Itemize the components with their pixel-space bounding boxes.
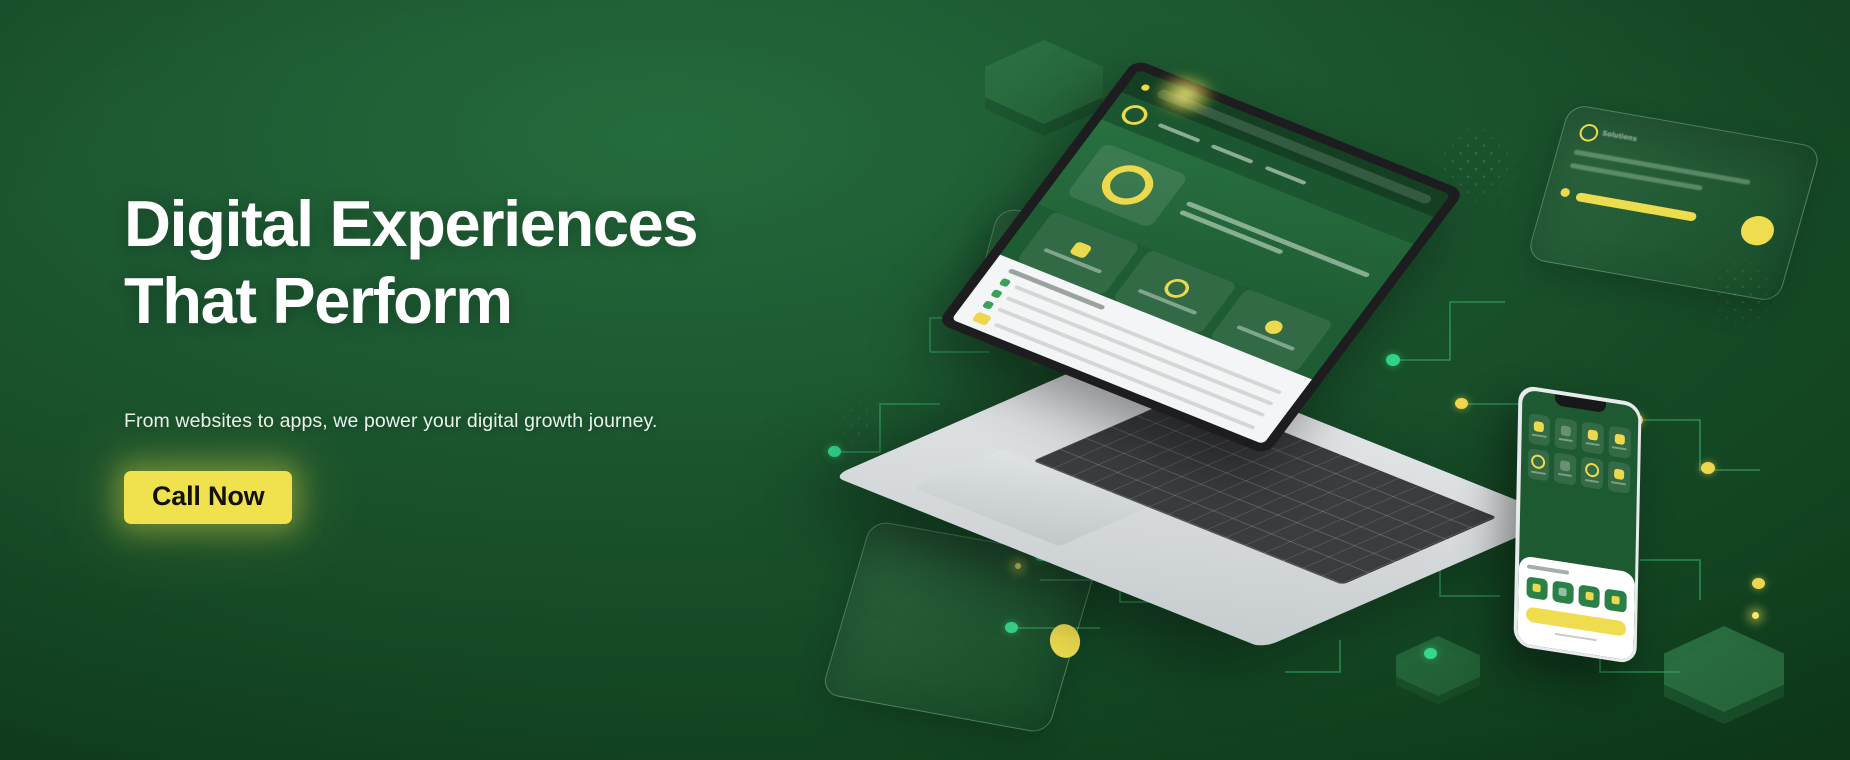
nav-item [1158, 123, 1201, 142]
hero-banner: Solutions Solutions [0, 0, 1850, 760]
app-icon [1614, 468, 1624, 480]
circuit-node [1701, 462, 1715, 474]
circuit-node [1752, 578, 1765, 589]
laptop-illustration [1000, 92, 1520, 612]
app-icon [1614, 433, 1624, 445]
hero-copy: Digital Experiences That Perform From we… [124, 186, 884, 524]
hero-subtitle: From websites to apps, we power your dig… [124, 407, 884, 436]
check-icon [981, 300, 994, 310]
chip-icon [971, 311, 992, 325]
app-icon [1588, 429, 1598, 441]
check-icon [990, 289, 1003, 299]
phone-bottom-card [1517, 555, 1635, 661]
nav-item [1264, 166, 1307, 185]
blob-icon [1262, 319, 1286, 337]
circuit-node [1424, 648, 1437, 659]
card-title [1526, 564, 1568, 575]
app-tile [1554, 452, 1576, 485]
nav-item [1211, 145, 1254, 164]
card-icon-tile [1552, 580, 1574, 604]
card-icon-tile [1526, 576, 1548, 600]
app-tile [1581, 456, 1603, 489]
phone-screen [1517, 389, 1638, 661]
phone-illustration [1513, 384, 1641, 664]
app-tile-grid [1519, 402, 1638, 573]
app-tile [1527, 448, 1549, 481]
app-tile [1608, 460, 1630, 493]
list-icon [1068, 241, 1092, 259]
app-tile [1581, 421, 1603, 454]
card-icon-tile [1578, 584, 1600, 608]
laptop-screen [951, 70, 1450, 444]
headline-line-1: Digital Experiences [124, 187, 697, 260]
app-icon [1534, 421, 1544, 433]
app-icon [1531, 453, 1545, 469]
ring-logo-icon [1117, 102, 1152, 128]
app-icon [1585, 462, 1599, 478]
headline-line-2: That Perform [124, 263, 884, 340]
ring-logo-icon [1092, 159, 1162, 212]
check-icon [998, 278, 1011, 288]
primary-action-button [1525, 606, 1625, 637]
card-icon-tile [1605, 588, 1627, 612]
ring-icon [1160, 276, 1194, 301]
home-indicator [1554, 632, 1596, 641]
app-icon [1561, 425, 1571, 437]
app-tile [1608, 425, 1630, 458]
app-icon [1560, 460, 1570, 472]
hero-logo-card [1065, 142, 1189, 228]
app-tile [1555, 417, 1577, 450]
call-now-button[interactable]: Call Now [124, 471, 292, 524]
page-title: Digital Experiences That Perform [124, 186, 884, 339]
card-icon-row [1526, 576, 1626, 613]
app-tile [1528, 413, 1550, 446]
spark-icon [1752, 612, 1759, 619]
